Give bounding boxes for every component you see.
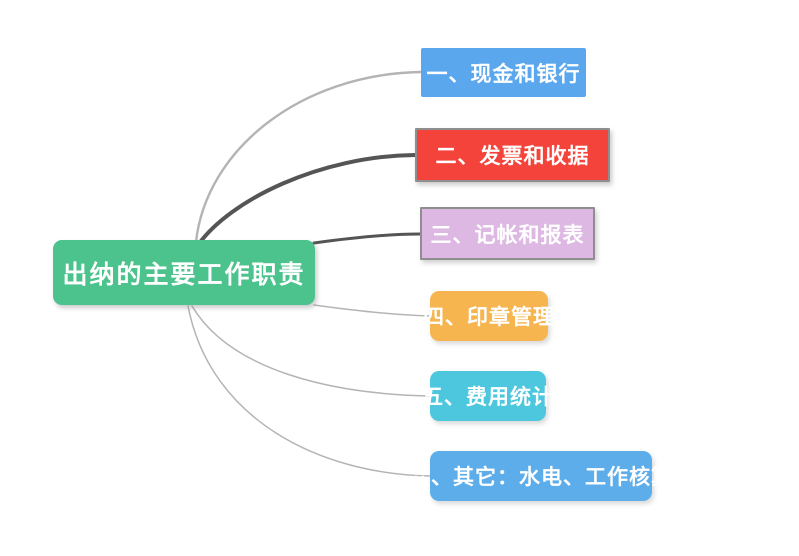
connector-to-branch-6: [188, 306, 430, 476]
branch-node-2-label: 二、发票和收据: [436, 140, 590, 170]
branch-node-1-label: 一、现金和银行: [427, 58, 581, 88]
branch-node-1[interactable]: 一、现金和银行: [421, 48, 586, 97]
branch-node-3-label: 三、记帐和报表: [431, 219, 585, 249]
connector-to-branch-5: [192, 306, 430, 396]
mindmap-canvas: 出纳的主要工作职责 一、现金和银行 二、发票和收据 三、记帐和报表 四、印章管理…: [0, 0, 799, 556]
branch-node-2-selected[interactable]: 二、发票和收据: [415, 128, 610, 182]
root-node[interactable]: 出纳的主要工作职责: [53, 240, 315, 305]
root-node-label: 出纳的主要工作职责: [62, 255, 305, 291]
connector-to-branch-4: [314, 305, 430, 316]
branch-node-4[interactable]: 四、印章管理: [430, 291, 548, 341]
branch-node-6[interactable]: 六、其它：水电、工作核算: [430, 451, 652, 501]
connector-to-branch-3: [314, 234, 420, 243]
branch-node-6-label: 六、其它：水电、工作核算: [409, 461, 673, 491]
connector-to-branch-2: [198, 155, 415, 245]
connector-to-branch-1: [196, 72, 421, 242]
branch-node-4-label: 四、印章管理: [423, 301, 555, 331]
branch-node-3[interactable]: 三、记帐和报表: [420, 207, 595, 260]
branch-node-5[interactable]: 五、费用统计: [430, 371, 546, 421]
branch-node-5-label: 五、费用统计: [422, 381, 554, 411]
